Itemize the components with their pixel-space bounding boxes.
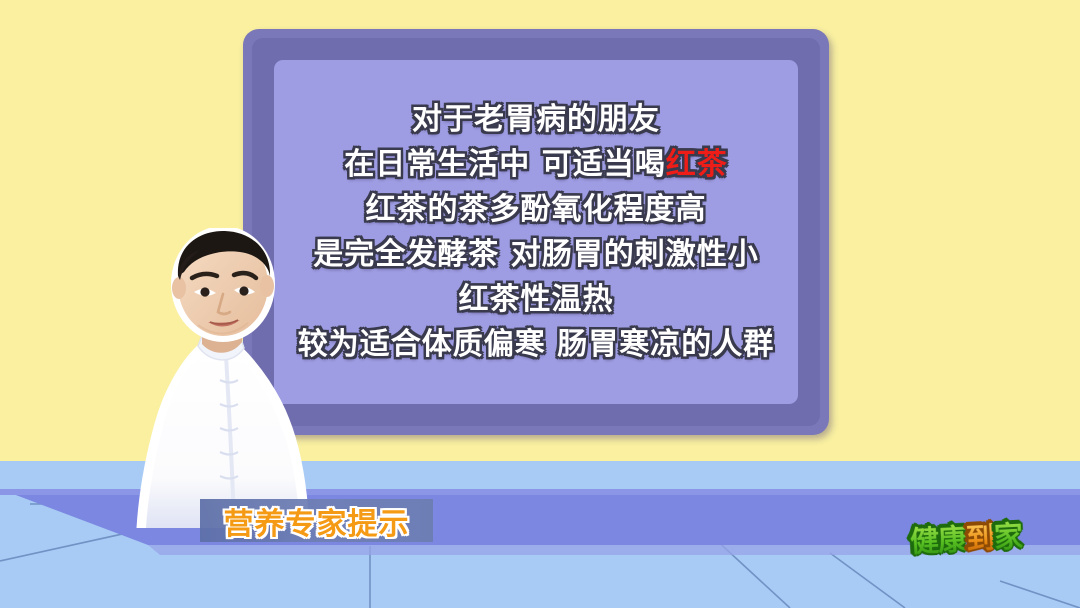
channel-logo-accent: 到 — [965, 521, 995, 556]
video-frame: 对于老胃病的朋友 在日常生活中 可适当喝红茶 红茶的茶多酚氧化程度高 是完全发酵… — [0, 0, 1080, 608]
subtitle-board-inner: 对于老胃病的朋友 在日常生活中 可适当喝红茶 红茶的茶多酚氧化程度高 是完全发酵… — [274, 60, 798, 404]
lower-third-label: 营养专家提示 — [200, 499, 433, 542]
channel-logo-part1: 健康 — [909, 522, 967, 559]
subtitle-line-2-highlight: 红茶 — [666, 147, 728, 182]
subtitle-text-block: 对于老胃病的朋友 在日常生活中 可适当喝红茶 红茶的茶多酚氧化程度高 是完全发酵… — [274, 97, 798, 367]
subtitle-line-4: 是完全发酵茶 对肠胃的刺激性小 — [274, 232, 798, 277]
subtitle-line-6: 较为适合体质偏寒 肠胃寒凉的人群 — [274, 322, 798, 367]
channel-logo: 健康到家 — [909, 513, 1023, 561]
channel-logo-part2: 家 — [993, 519, 1023, 554]
subtitle-line-5: 红茶性温热 — [274, 277, 798, 322]
subtitle-line-1: 对于老胃病的朋友 — [274, 97, 798, 142]
presenter-figure — [128, 228, 318, 528]
subtitle-board: 对于老胃病的朋友 在日常生活中 可适当喝红茶 红茶的茶多酚氧化程度高 是完全发酵… — [243, 29, 829, 435]
subtitle-board-frame: 对于老胃病的朋友 在日常生活中 可适当喝红茶 红茶的茶多酚氧化程度高 是完全发酵… — [252, 38, 820, 426]
subtitle-line-3: 红茶的茶多酚氧化程度高 — [274, 187, 798, 232]
subtitle-line-2-text: 在日常生活中 可适当喝 — [344, 147, 665, 182]
subtitle-line-2: 在日常生活中 可适当喝红茶 — [274, 142, 798, 187]
